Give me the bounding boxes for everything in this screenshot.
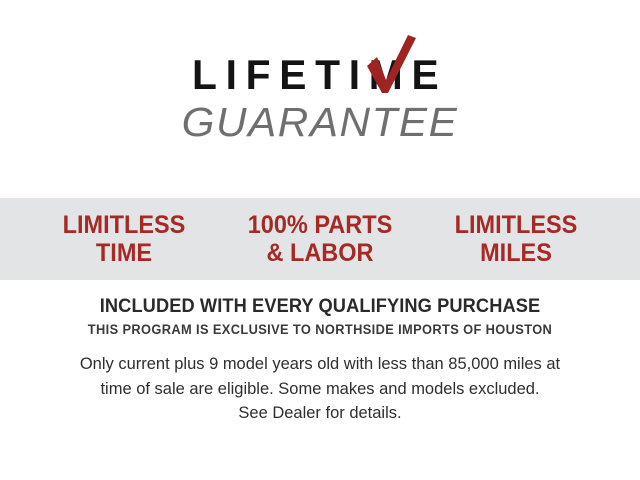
feature-line-2: & LABOR (228, 239, 412, 268)
fineprint-line: time of sale are eligible. Some makes an… (41, 377, 600, 402)
feature-banner: LIMITLESS TIME 100% PARTS & LABOR LIMITL… (0, 198, 640, 280)
feature-line-1: LIMITLESS (455, 211, 578, 239)
fineprint: Only current plus 9 model years old with… (0, 352, 640, 426)
logo-lifetime-text: LIFETIME (192, 52, 447, 98)
lifetime-guarantee-ad: LIFETIME GUARANTEE LIMITLESS TIME 100% P… (0, 0, 640, 480)
logo-lifetime-wrap: LIFETIME (188, 52, 451, 98)
feature-line-2: MILES (424, 239, 608, 268)
logo-guarantee-text: GUARANTEE (0, 99, 640, 146)
feature-line-1: LIMITLESS (63, 211, 186, 239)
fineprint-line: See Dealer for details. (41, 401, 600, 426)
feature-column-limitless-time: LIMITLESS TIME (32, 211, 216, 268)
headline: INCLUDED WITH EVERY QUALIFYING PURCHASE (13, 296, 627, 318)
subheadline: THIS PROGRAM IS EXCLUSIVE TO NORTHSIDE I… (16, 322, 624, 337)
feature-line-2: TIME (32, 239, 216, 268)
fineprint-line: Only current plus 9 model years old with… (41, 352, 600, 377)
body-block: INCLUDED WITH EVERY QUALIFYING PURCHASE … (0, 296, 640, 426)
feature-column-parts-labor: 100% PARTS & LABOR (228, 211, 412, 268)
feature-column-limitless-miles: LIMITLESS MILES (424, 211, 608, 268)
feature-line-1: 100% PARTS (248, 211, 393, 239)
logo-block: LIFETIME GUARANTEE (0, 52, 640, 146)
